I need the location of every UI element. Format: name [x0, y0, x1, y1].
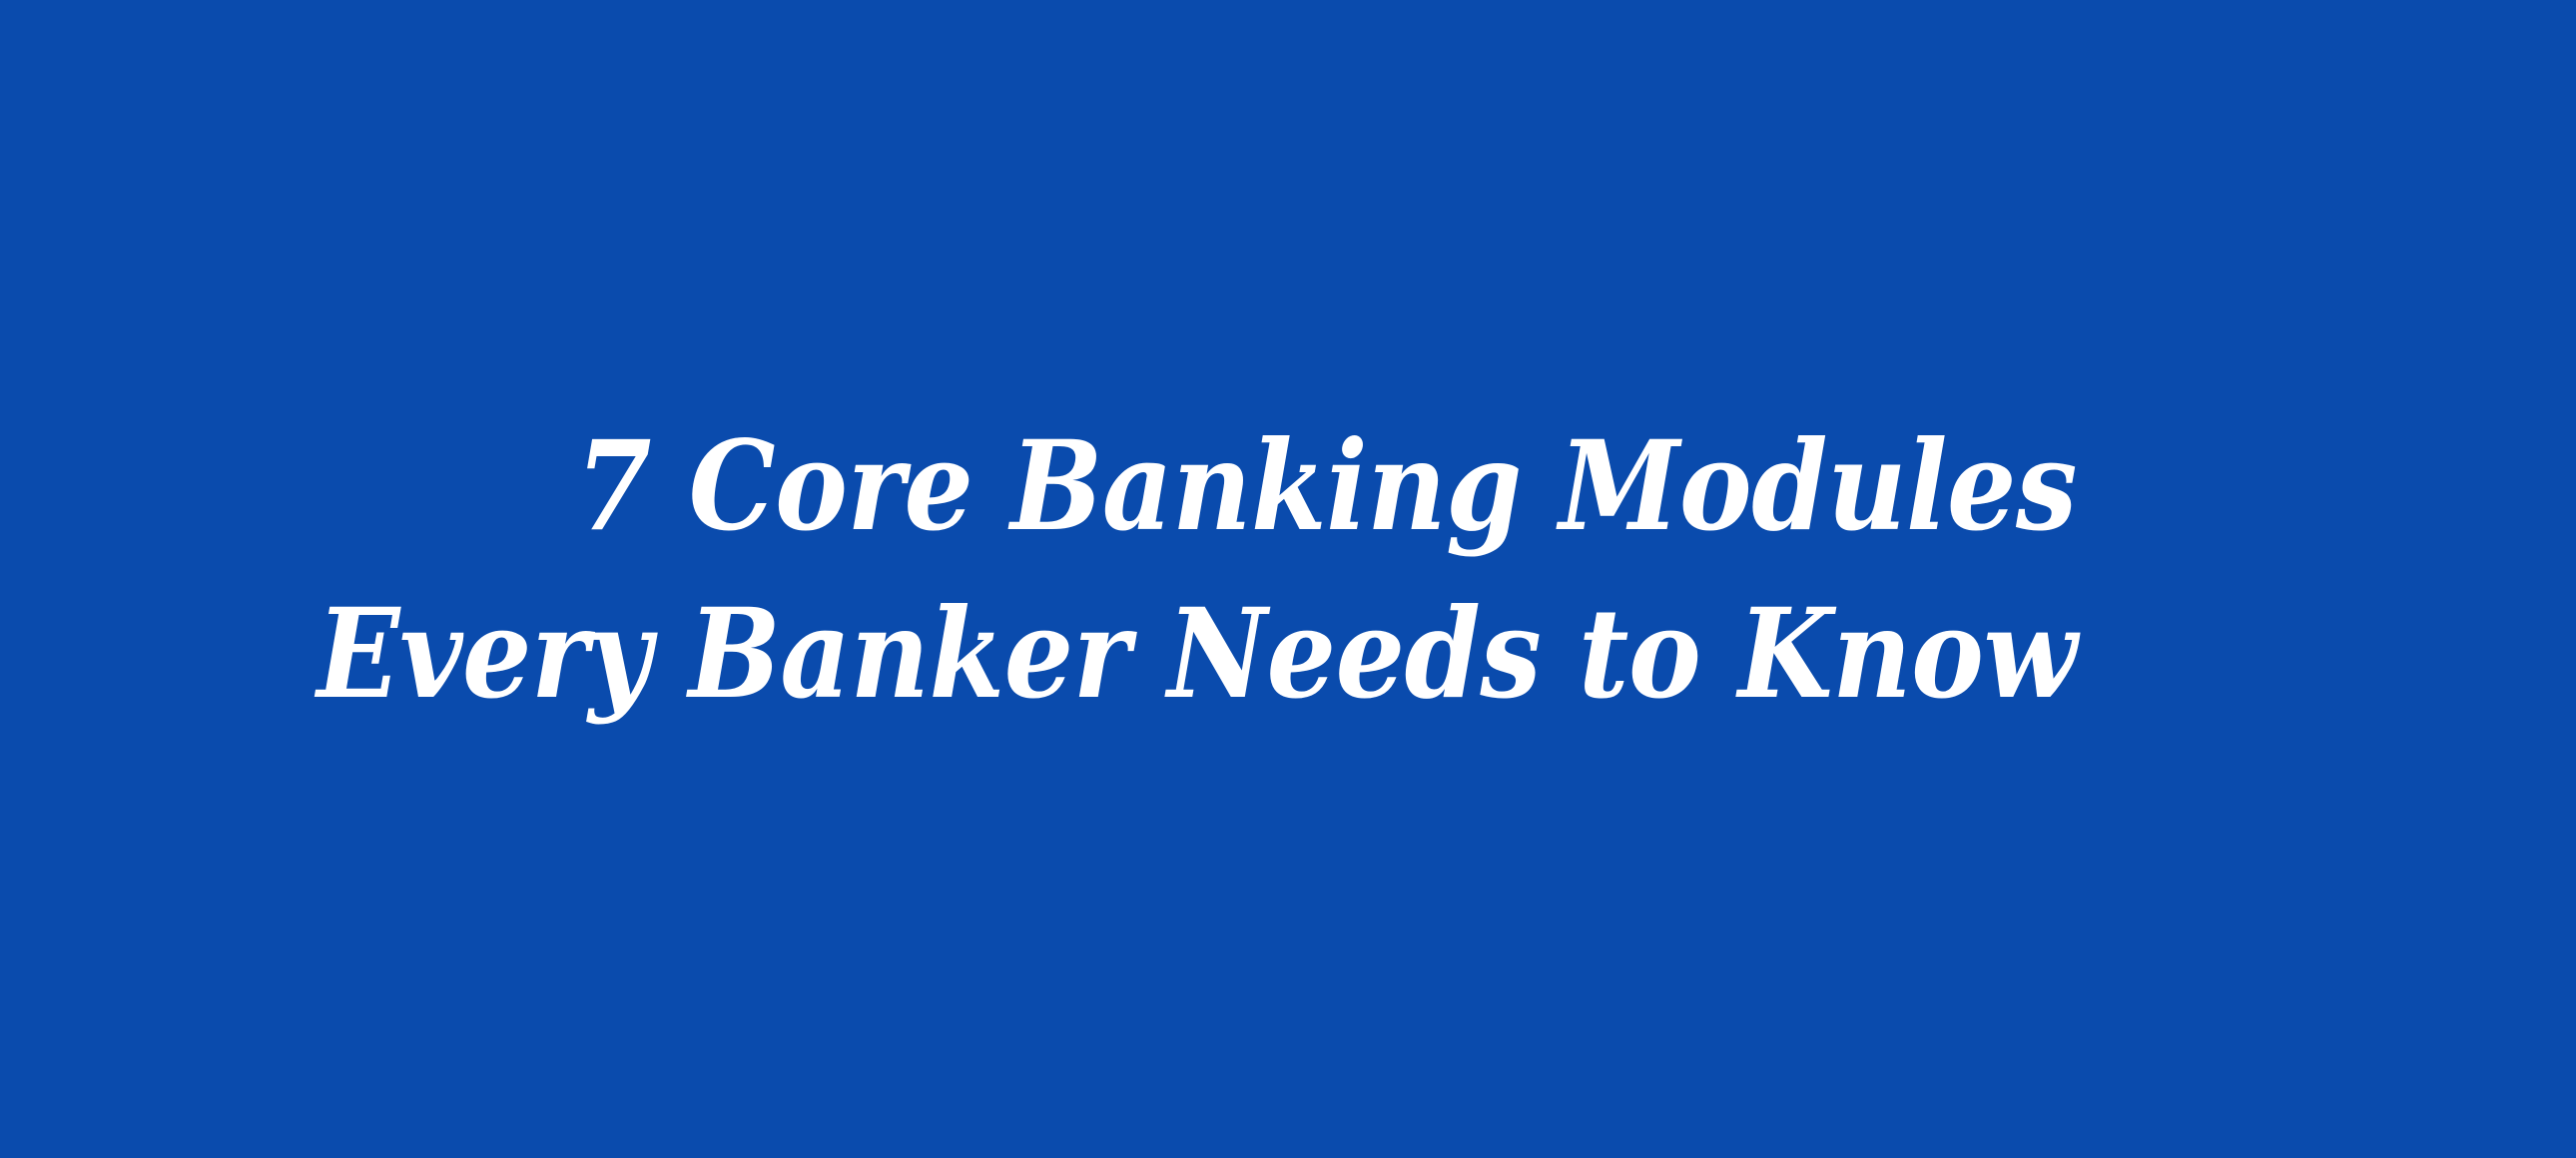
title-block: 7 Core Banking Modules Every Banker Need…	[77, 403, 2077, 739]
title-card-canvas: 7 Core Banking Modules Every Banker Need…	[0, 0, 2576, 1158]
title-line-2: Every Banker Needs to Know	[317, 571, 2077, 739]
title-line-1: 7 Core Banking Modules	[317, 403, 2077, 571]
